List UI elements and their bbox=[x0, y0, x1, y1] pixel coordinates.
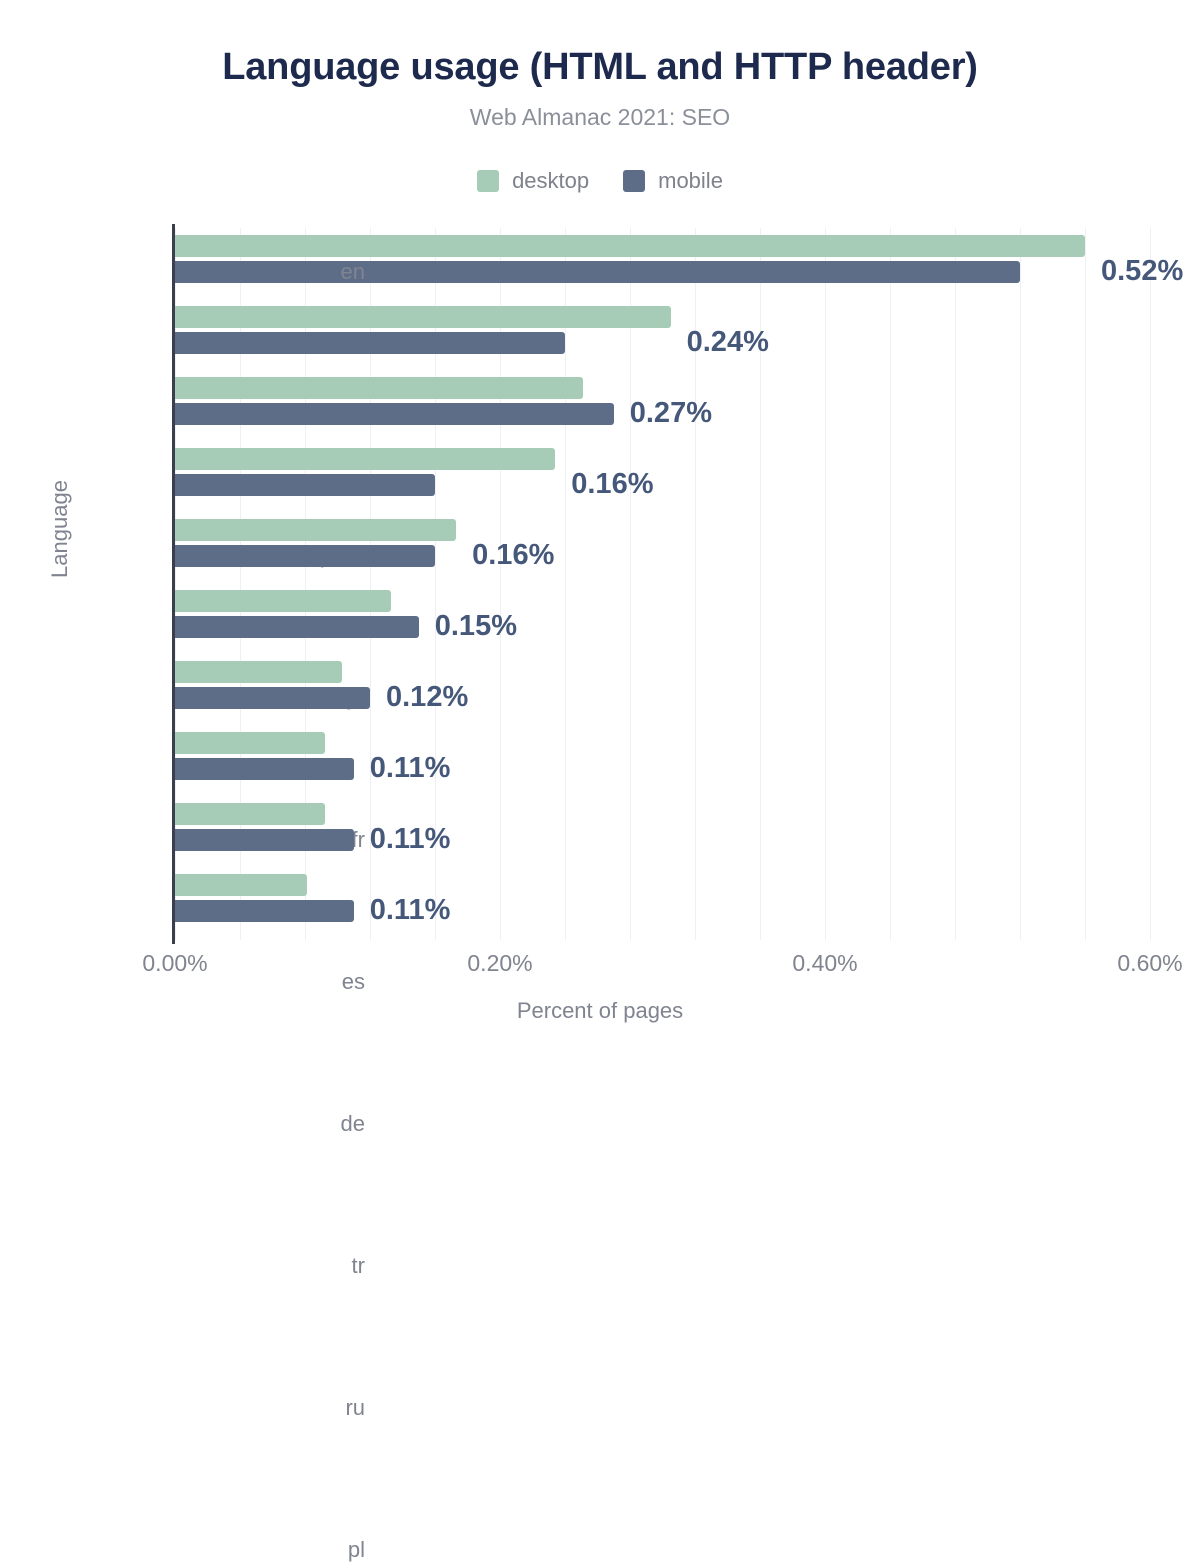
y-axis-category-label: pl bbox=[65, 1539, 365, 1561]
bar-mobile[interactable] bbox=[175, 474, 435, 496]
bar-desktop[interactable] bbox=[175, 874, 307, 896]
bar-mobile[interactable] bbox=[175, 616, 419, 638]
legend-swatch-mobile bbox=[623, 170, 645, 192]
chart-subtitle: Web Almanac 2021: SEO bbox=[0, 104, 1200, 131]
chart-container: Language usage (HTML and HTTP header) We… bbox=[0, 0, 1200, 1058]
bar-value-label: 0.11% bbox=[370, 823, 451, 856]
legend-swatch-desktop bbox=[477, 170, 499, 192]
bar-group: 0.24%en-us bbox=[175, 306, 1200, 358]
bar-desktop[interactable] bbox=[175, 306, 671, 328]
bar-mobile[interactable] bbox=[175, 403, 614, 425]
chart-title: Language usage (HTML and HTTP header) bbox=[0, 46, 1200, 89]
legend-label-desktop: desktop bbox=[512, 168, 589, 194]
bar-group: 0.27%pt-br bbox=[175, 377, 1200, 429]
bar-desktop[interactable] bbox=[175, 235, 1085, 257]
y-axis-title: Language bbox=[40, 0, 80, 1058]
bars-layer: 0.52%en0.24%en-us0.27%pt-br0.16%ja0.16%f… bbox=[175, 228, 1150, 940]
bar-group: 0.16%fr bbox=[175, 519, 1200, 571]
bar-desktop[interactable] bbox=[175, 803, 325, 825]
bar-desktop[interactable] bbox=[175, 377, 583, 399]
y-axis-category-label: es bbox=[65, 971, 365, 993]
bar-desktop[interactable] bbox=[175, 519, 456, 541]
bar-value-label: 0.52% bbox=[1101, 255, 1183, 288]
bar-group: 0.11%tr bbox=[175, 732, 1200, 784]
legend-label-mobile: mobile bbox=[658, 168, 723, 194]
x-axis-tick-label: 0.40% bbox=[792, 950, 857, 977]
bar-value-label: 0.11% bbox=[370, 752, 451, 785]
bar-value-label: 0.24% bbox=[687, 326, 769, 359]
x-axis-title: Percent of pages bbox=[0, 998, 1200, 1024]
bar-value-label: 0.27% bbox=[630, 397, 712, 430]
bar-group: 0.52%en bbox=[175, 235, 1200, 287]
bar-value-label: 0.15% bbox=[435, 610, 517, 643]
y-axis-category-label: de bbox=[65, 1113, 365, 1135]
bar-mobile[interactable] bbox=[175, 829, 354, 851]
legend-item-mobile[interactable]: mobile bbox=[623, 168, 723, 194]
chart-legend: desktop mobile bbox=[0, 168, 1200, 194]
y-axis-category-label: ru bbox=[65, 1397, 365, 1419]
bar-mobile[interactable] bbox=[175, 545, 435, 567]
bar-value-label: 0.12% bbox=[386, 681, 468, 714]
bar-group: 0.15%es bbox=[175, 590, 1200, 642]
bar-desktop[interactable] bbox=[175, 448, 555, 470]
y-axis-category-label: tr bbox=[65, 1255, 365, 1277]
plot-area: 0.52%en0.24%en-us0.27%pt-br0.16%ja0.16%f… bbox=[175, 228, 1150, 940]
bar-mobile[interactable] bbox=[175, 687, 370, 709]
bar-mobile[interactable] bbox=[175, 900, 354, 922]
y-axis-category-label: en bbox=[65, 261, 365, 283]
bar-group: 0.11%ru bbox=[175, 803, 1200, 855]
bar-desktop[interactable] bbox=[175, 661, 342, 683]
bar-mobile[interactable] bbox=[175, 332, 565, 354]
bar-desktop[interactable] bbox=[175, 590, 391, 612]
bar-value-label: 0.11% bbox=[370, 894, 451, 927]
x-axis-tick-label: 0.20% bbox=[467, 950, 532, 977]
x-axis-tick-label: 0.00% bbox=[142, 950, 207, 977]
bar-group: 0.11%pl bbox=[175, 874, 1200, 926]
legend-item-desktop[interactable]: desktop bbox=[477, 168, 589, 194]
x-axis-tick-label: 0.60% bbox=[1117, 950, 1182, 977]
bar-group: 0.16%ja bbox=[175, 448, 1200, 500]
bar-desktop[interactable] bbox=[175, 732, 325, 754]
bar-group: 0.12%de bbox=[175, 661, 1200, 713]
bar-value-label: 0.16% bbox=[472, 539, 554, 572]
bar-value-label: 0.16% bbox=[571, 468, 653, 501]
bar-mobile[interactable] bbox=[175, 758, 354, 780]
